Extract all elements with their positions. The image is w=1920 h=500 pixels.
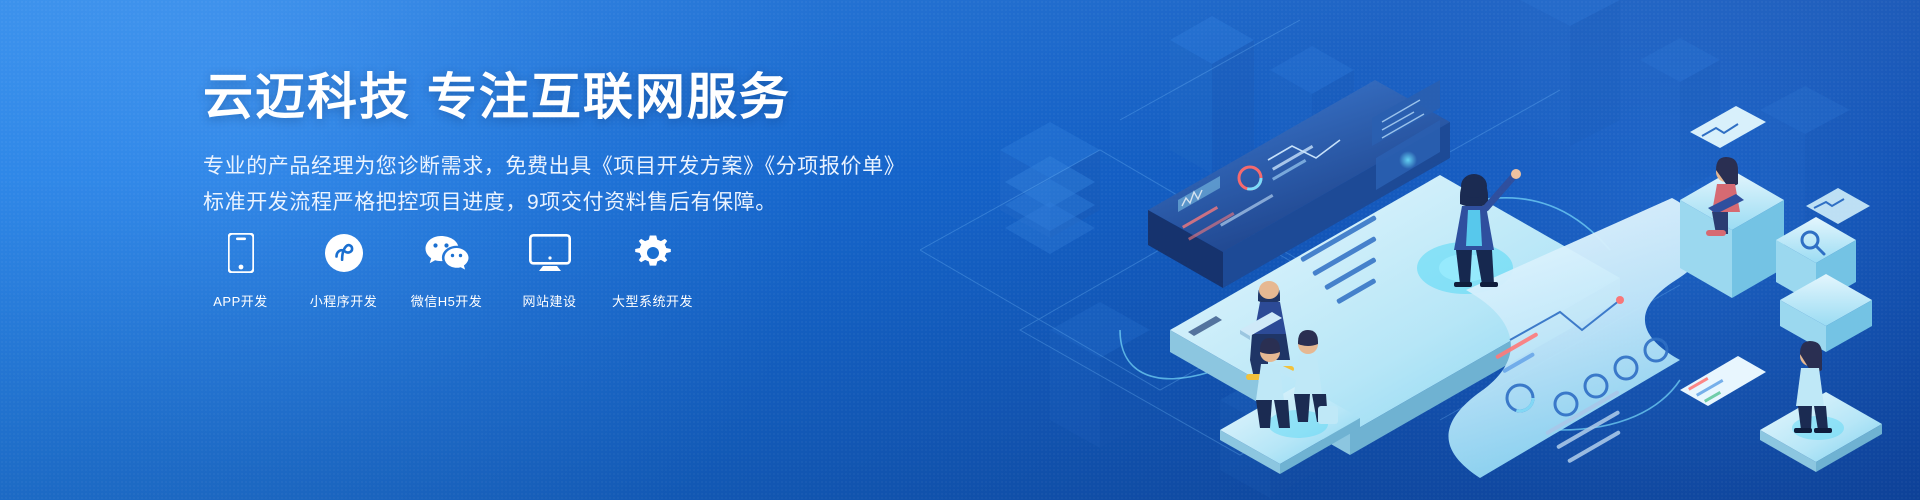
service-item-wechat-h5[interactable]: 微信H5开发 — [409, 231, 484, 310]
banner-subtitle-line-2: 标准开发流程严格把控项目进度，9项交付资料售后有保障。 — [203, 185, 903, 221]
service-item-mini-program[interactable]: 小程序开发 — [306, 231, 381, 310]
service-item-website[interactable]: 网站建设 — [512, 231, 587, 310]
service-label: 微信H5开发 — [411, 291, 483, 310]
monitor-icon — [529, 231, 571, 275]
service-item-large-system[interactable]: 大型系统开发 — [615, 231, 690, 310]
banner-subtitle-line-1: 专业的产品经理为您诊断需求，免费出具《项目开发方案》《分项报价单》 — [203, 149, 903, 185]
standing-woman-right — [1760, 341, 1882, 472]
mini-program-icon — [325, 231, 363, 275]
isometric-tech-illustration — [920, 0, 1920, 500]
service-label: APP开发 — [213, 291, 268, 310]
service-label: 小程序开发 — [310, 291, 378, 310]
banner-subtitle: 专业的产品经理为您诊断需求，免费出具《项目开发方案》《分项报价单》 标准开发流程… — [203, 149, 903, 221]
page-title: 云迈科技 专注互联网服务 — [203, 68, 903, 127]
mobile-phone-icon — [228, 231, 254, 275]
service-list: APP开发 小程序开发 微信 — [203, 231, 690, 310]
wechat-icon — [425, 231, 469, 275]
service-item-app[interactable]: APP开发 — [203, 231, 278, 310]
gear-icon — [633, 231, 673, 275]
promo-banner: 云迈科技 专注互联网服务 专业的产品经理为您诊断需求，免费出具《项目开发方案》《… — [0, 0, 1920, 500]
service-label: 网站建设 — [522, 291, 576, 310]
banner-copy: 云迈科技 专注互联网服务 专业的产品经理为您诊断需求，免费出具《项目开发方案》《… — [203, 68, 903, 221]
service-label: 大型系统开发 — [612, 291, 693, 310]
